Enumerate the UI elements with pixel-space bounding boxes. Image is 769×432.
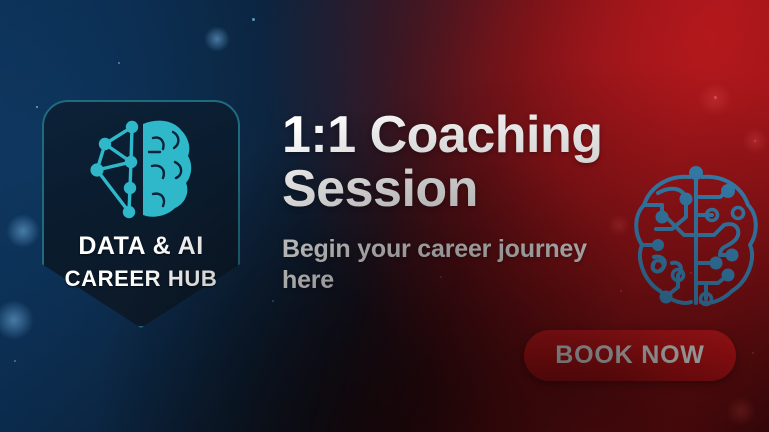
glow-particle (742, 128, 768, 154)
dot-particle (752, 352, 754, 354)
circuit-brain-icon (628, 163, 764, 313)
dot-particle (714, 96, 717, 99)
logo-title-line2: CAREER HUB (65, 268, 218, 290)
glow-particle (204, 26, 230, 52)
headline-line1: 1:1 Coaching (282, 108, 654, 162)
badge-content: DATA & AI CAREER HUB (42, 100, 240, 328)
dot-particle (118, 62, 120, 64)
dot-particle (272, 300, 274, 302)
dot-particle (252, 18, 255, 21)
subheading: Begin your career journey here (282, 234, 654, 296)
logo-title-line1: DATA & AI (78, 234, 203, 259)
book-now-button[interactable]: BOOK NOW (524, 330, 736, 381)
subhead-line1: Begin your career journey (282, 234, 654, 265)
glow-particle (726, 396, 756, 426)
network-brain-icon (85, 118, 197, 222)
dot-particle (754, 140, 756, 142)
glow-particle (698, 82, 732, 116)
headline-line2: Session (282, 162, 654, 216)
dot-particle (14, 360, 16, 362)
dot-particle (36, 106, 38, 108)
glow-particle (0, 300, 34, 340)
logo-badge: DATA & AI CAREER HUB (42, 100, 240, 328)
copy-block: 1:1 Coaching Session Begin your career j… (282, 108, 654, 296)
page-title: 1:1 Coaching Session (282, 108, 654, 216)
subhead-line2: here (282, 265, 654, 296)
glow-particle (6, 214, 40, 248)
promo-banner: DATA & AI CAREER HUB 1:1 Coaching Sessio… (0, 0, 769, 432)
